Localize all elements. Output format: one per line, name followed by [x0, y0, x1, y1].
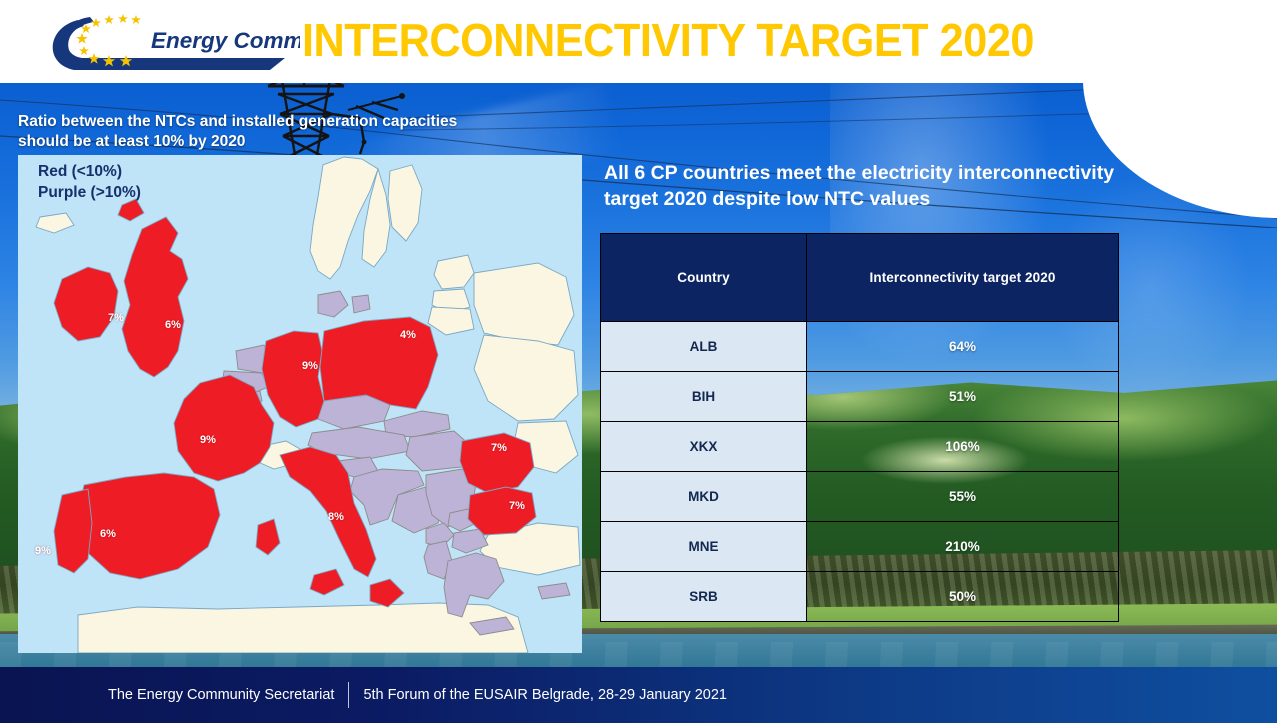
- cell-country: MNE: [601, 522, 807, 572]
- map-label-bulgaria: 7%: [509, 500, 525, 512]
- table-header-row: Country Interconnectivity target 2020: [601, 234, 1119, 322]
- map-label-germany: 9%: [302, 360, 318, 372]
- slide-header: Energy Community INTERCONNECTIVITY TARGE…: [0, 0, 1277, 83]
- table-row[interactable]: XKX 106%: [601, 422, 1119, 472]
- europe-ntc-ratio-map[interactable]: Red (<10%) Purple (>10%) 7% 6% 4% 9% 9% …: [18, 155, 582, 653]
- slide: Energy Community INTERCONNECTIVITY TARGE…: [0, 0, 1277, 723]
- right-panel-heading: All 6 CP countries meet the electricity …: [604, 160, 1204, 212]
- column-header-target: Interconnectivity target 2020: [807, 234, 1119, 322]
- cell-target: 106%: [807, 422, 1119, 472]
- left-heading-line-1: Ratio between the NTCs and installed gen…: [18, 112, 538, 132]
- table-row[interactable]: MKD 55%: [601, 472, 1119, 522]
- slide-footer: The Energy Community Secretariat 5th For…: [0, 667, 1277, 723]
- cell-country: MKD: [601, 472, 807, 522]
- map-label-ireland: 7%: [108, 312, 124, 324]
- interconnectivity-target-table[interactable]: Country Interconnectivity target 2020 AL…: [600, 233, 1119, 622]
- energy-community-logo: Energy Community: [38, 8, 300, 76]
- right-heading-line-1: All 6 CP countries meet the electricity …: [604, 160, 1204, 186]
- cell-target: 64%: [807, 322, 1119, 372]
- footer-event: 5th Forum of the EUSAIR Belgrade, 28-29 …: [363, 687, 727, 703]
- table-row[interactable]: ALB 64%: [601, 322, 1119, 372]
- map-legend: Red (<10%) Purple (>10%): [38, 161, 141, 203]
- map-label-romania: 7%: [491, 442, 507, 454]
- map-label-italy: 8%: [328, 511, 344, 523]
- cell-target: 55%: [807, 472, 1119, 522]
- footer-organisation: The Energy Community Secretariat: [108, 687, 334, 703]
- left-heading-line-2: should be at least 10% by 2020: [18, 132, 538, 152]
- cell-target: 51%: [807, 372, 1119, 422]
- footer-content: The Energy Community Secretariat 5th For…: [108, 667, 727, 723]
- map-label-united-kingdom: 6%: [165, 319, 181, 331]
- cell-country: BIH: [601, 372, 807, 422]
- footer-divider: [348, 682, 349, 708]
- left-panel-heading: Ratio between the NTCs and installed gen…: [18, 112, 538, 152]
- cell-country: XKX: [601, 422, 807, 472]
- cell-country: SRB: [601, 572, 807, 622]
- cell-target: 50%: [807, 572, 1119, 622]
- table-row[interactable]: SRB 50%: [601, 572, 1119, 622]
- europe-map-graphic: [18, 155, 582, 653]
- legend-purple: Purple (>10%): [38, 182, 141, 203]
- map-label-poland: 4%: [400, 329, 416, 341]
- table-row[interactable]: BIH 51%: [601, 372, 1119, 422]
- right-heading-line-2: target 2020 despite low NTC values: [604, 186, 1204, 212]
- cell-target: 210%: [807, 522, 1119, 572]
- table-head: Country Interconnectivity target 2020: [601, 234, 1119, 322]
- legend-red: Red (<10%): [38, 161, 141, 182]
- column-header-country: Country: [601, 234, 807, 322]
- table-row[interactable]: MNE 210%: [601, 522, 1119, 572]
- page-title: INTERCONNECTIVITY TARGET 2020: [302, 12, 1034, 68]
- map-label-france: 9%: [200, 434, 216, 446]
- logo-wordmark: Energy Community: [151, 28, 300, 53]
- map-label-portugal: 9%: [35, 545, 51, 557]
- map-label-spain: 6%: [100, 528, 116, 540]
- cell-country: ALB: [601, 322, 807, 372]
- table-body: ALB 64% BIH 51% XKX 106% MKD 55% MNE 210…: [601, 322, 1119, 622]
